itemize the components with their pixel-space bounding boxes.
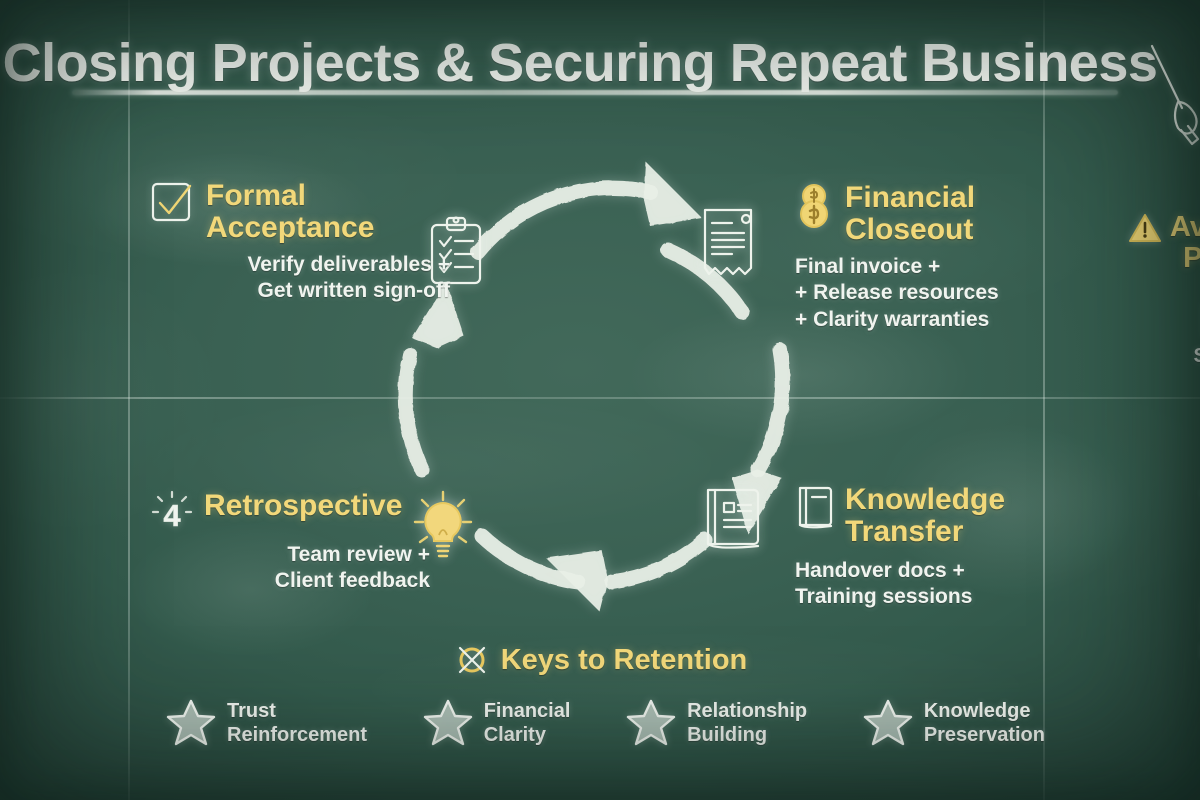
page-title-wrapper: Closing Projects & Securing Repeat Busin… (0, 32, 1160, 94)
step-heading-line2: Transfer (845, 516, 1005, 548)
retention-keys-list: Trust Reinforcement Financial Clarity (165, 698, 1045, 748)
step-heading-line1: Financial (845, 182, 975, 214)
invoice-receipt-icon (698, 205, 758, 279)
star-icon (625, 698, 677, 748)
star-icon (422, 698, 474, 748)
page-title: Closing Projects & Securing Repeat Busin… (0, 32, 1160, 94)
star-icon (862, 698, 914, 748)
step-heading-row: Knowledge Transfer (795, 484, 1085, 548)
avoid-pitfalls-panel[interactable]: Avo Pi Scop Un Cr De (1128, 212, 1200, 665)
pitfall-item[interactable]: Los (1128, 595, 1200, 665)
retention-key-label: Trust Reinforcement (227, 699, 367, 747)
coin-money-icon (795, 182, 835, 232)
lightbulb-number-icon: 4 (150, 490, 194, 534)
pitfall-item[interactable]: Scop (1128, 299, 1200, 369)
retention-key-line2: Building (687, 723, 807, 747)
pitfalls-heading: Avo Pi (1170, 212, 1200, 273)
step-heading-row: Financial Closeout (795, 182, 1085, 246)
retention-key-label: Knowledge Preservation (924, 699, 1045, 747)
step-heading-row: 4 Retrospective (150, 490, 430, 534)
step-heading-row: Formal Acceptance (150, 180, 450, 244)
chalk-gridline-vertical-right (1043, 0, 1045, 800)
pitfall-item[interactable]: De In (1128, 472, 1200, 569)
crossed-keys-icon (453, 642, 491, 678)
retention-key-label: Relationship Building (687, 699, 807, 747)
step-detail-line2: + Release resources (795, 280, 1085, 306)
retention-key-item[interactable]: Relationship Building (625, 698, 807, 748)
retention-key-label: Financial Clarity (484, 699, 571, 747)
keys-to-retention-title: Keys to Retention (501, 645, 748, 676)
step-heading: Retrospective (204, 490, 402, 522)
retention-key-line2: Preservation (924, 723, 1045, 747)
retention-key-line1: Trust (227, 699, 367, 723)
step-heading: Formal Acceptance (206, 180, 374, 244)
step-heading-line1: Retrospective (204, 490, 402, 522)
step-heading-line2: Closeout (845, 214, 975, 246)
step-heading-line1: Knowledge (845, 484, 1005, 516)
pitfalls-heading-row: Avo Pi (1128, 212, 1200, 273)
pitfalls-heading-line2: Pi (1170, 243, 1200, 274)
retention-key-line1: Knowledge (924, 699, 1045, 723)
step-detail-line2: Get written sign-off (150, 278, 450, 304)
pitfalls-heading-line1: Avo (1170, 212, 1200, 243)
cycle-step-knowledge-transfer[interactable]: Knowledge Transfer Handover docs + Train… (795, 484, 1085, 611)
document-book-icon (702, 485, 764, 551)
pitfall-label: Scop (1194, 345, 1200, 369)
svg-text:4: 4 (163, 498, 181, 533)
book-icon (795, 484, 835, 530)
star-icon (165, 698, 217, 748)
retention-key-line1: Relationship (687, 699, 807, 723)
step-heading: Knowledge Transfer (845, 484, 1005, 548)
pencil-icon (1148, 40, 1200, 155)
title-underline (72, 90, 1118, 95)
keys-to-retention-header: Keys to Retention (0, 642, 1200, 678)
step-heading: Financial Closeout (845, 182, 975, 246)
chalkboard-canvas: Closing Projects & Securing Repeat Busin… (0, 0, 1200, 800)
step-heading-line2: Acceptance (206, 212, 374, 244)
step-detail-line1: Handover docs + (795, 558, 1085, 584)
retention-key-line2: Clarity (484, 723, 571, 747)
chalk-gridline-vertical-left (128, 0, 130, 800)
warning-triangle-icon (1128, 212, 1162, 244)
step-detail-line1: Final invoice + (795, 254, 1085, 280)
step-detail-line1: Team review + (150, 542, 430, 568)
step-detail-line1: Verify deliverables + (150, 252, 450, 278)
retention-key-item[interactable]: Knowledge Preservation (862, 698, 1045, 748)
step-detail-line3: + Clarity warranties (795, 307, 1085, 333)
pitfall-item[interactable]: Un Cr (1128, 395, 1200, 446)
retention-key-item[interactable]: Trust Reinforcement (165, 698, 367, 748)
step-detail-line2: Training sessions (795, 584, 1085, 610)
cycle-step-retrospective[interactable]: 4 Retrospective Team review + Client fee… (150, 490, 430, 595)
cycle-step-financial-closeout[interactable]: Financial Closeout Final invoice + + Rel… (795, 182, 1085, 333)
retention-key-item[interactable]: Financial Clarity (422, 698, 571, 748)
checkbox-icon (150, 180, 196, 224)
step-detail-line2: Client feedback (150, 568, 430, 594)
retention-key-line2: Reinforcement (227, 723, 367, 747)
retention-key-line1: Financial (484, 699, 571, 723)
cycle-step-formal-acceptance[interactable]: Formal Acceptance Verify deliverables + … (150, 180, 450, 305)
step-heading-line1: Formal (206, 180, 374, 212)
